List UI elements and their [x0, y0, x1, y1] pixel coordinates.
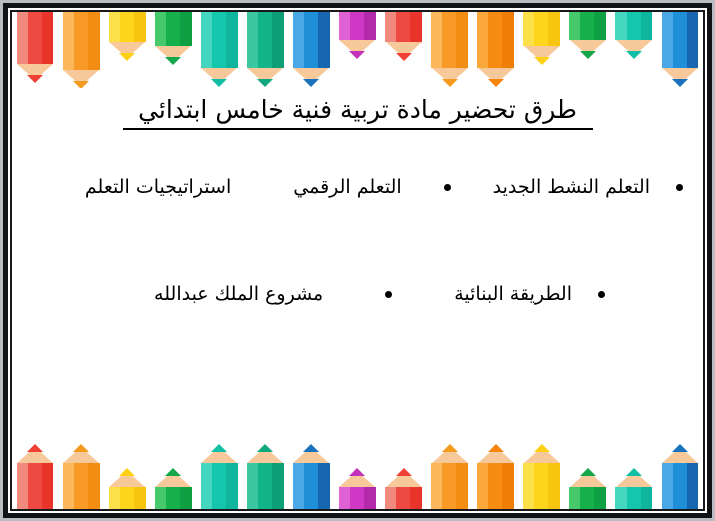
- bullet-item-text: الطريقة البنائية: [454, 281, 572, 308]
- pencil-teal-icon: [201, 444, 238, 509]
- pencil-tip: [349, 468, 365, 476]
- pencil-barrel: [109, 12, 146, 42]
- pencil-orange3-icon: [477, 12, 514, 87]
- pencil-blue-icon: [293, 444, 330, 509]
- pencil-barrel: [293, 12, 330, 68]
- pencil-tip: [211, 79, 227, 87]
- pencil-barrel: [523, 12, 560, 46]
- pencil-orange2-icon: [431, 12, 468, 87]
- bullet-item-text: التعلم النشط الجديد: [493, 174, 650, 201]
- pencil-tip: [488, 79, 504, 87]
- pencil-barrel: [247, 12, 284, 68]
- pencil-barrel: [385, 487, 422, 509]
- bullet-dot-icon: [598, 291, 605, 298]
- pencil-yellow-icon: [109, 12, 146, 61]
- pencil-teal-icon: [201, 12, 238, 87]
- pencil-red-icon: [17, 12, 54, 83]
- pencil-teal2-icon: [615, 12, 652, 59]
- bullet-dot-icon: [385, 291, 392, 298]
- pencil-barrel: [155, 12, 192, 46]
- bullet-line-2: الطريقة البنائية مشروع الملك عبدالله: [14, 281, 701, 308]
- pencil-barrel: [17, 12, 54, 64]
- bullet-dot-icon: [676, 184, 683, 191]
- pencil-barrel: [247, 463, 284, 509]
- page-title: طرق تحضير مادة تربية فنية خامس ابتدائي: [138, 94, 577, 125]
- pencil-red2-icon: [385, 468, 422, 509]
- slide-canvas: طرق تحضير مادة تربية فنية خامس ابتدائي ا…: [0, 0, 715, 521]
- pencil-yellow-icon: [109, 468, 146, 509]
- pencil-tip: [27, 444, 43, 452]
- pencil-purple-icon: [339, 12, 376, 59]
- bullet-item-text: استراتيجيات التعلم: [85, 174, 231, 201]
- pencil-tip: [534, 57, 550, 65]
- pencil-barrel: [293, 463, 330, 509]
- pencil-tip: [73, 81, 89, 88]
- page-title-wrap: طرق تحضير مادة تربية فنية خامس ابتدائي: [14, 94, 701, 130]
- bullet-line-1: التعلم النشط الجديد التعلم الرقمي استرات…: [14, 174, 701, 201]
- pencil-tip: [672, 79, 688, 87]
- pencil-tip: [396, 468, 412, 476]
- pencil-barrel: [63, 463, 100, 509]
- pencil-tip: [27, 75, 43, 83]
- pencil-tip: [580, 51, 596, 59]
- pencil-teal2-icon: [615, 468, 652, 509]
- pencil-tip: [303, 79, 319, 87]
- pencil-tip: [396, 53, 412, 61]
- pencil-tip: [626, 51, 642, 59]
- pencil-barrel: [109, 487, 146, 509]
- pencil-barrel: [477, 12, 514, 68]
- pencil-green2-icon: [569, 468, 606, 509]
- pencil-seagreen-icon: [247, 444, 284, 509]
- slide-content: طرق تحضير مادة تربية فنية خامس ابتدائي ا…: [14, 88, 701, 424]
- title-underline: [123, 128, 593, 130]
- pencil-yellow2-icon: [523, 444, 560, 509]
- pencil-barrel: [431, 463, 468, 509]
- pencil-tip: [303, 444, 319, 452]
- pencil-orange-icon: [63, 12, 100, 88]
- pencil-tip: [119, 53, 135, 61]
- pencil-red-icon: [17, 444, 54, 509]
- pencil-barrel: [339, 12, 376, 40]
- pencil-barrel: [385, 12, 422, 42]
- bullet-item-text: التعلم الرقمي: [293, 174, 401, 201]
- pencil-tip: [442, 79, 458, 87]
- pencil-green-icon: [155, 12, 192, 65]
- pencil-seagreen-icon: [247, 12, 284, 87]
- bullet-dot-icon: [444, 184, 451, 191]
- pencil-tip: [211, 444, 227, 452]
- pencil-barrel: [201, 463, 238, 509]
- pencil-tip: [165, 468, 181, 476]
- pencil-tip: [534, 444, 550, 452]
- pencil-border-top: [12, 12, 703, 88]
- pencil-barrel: [431, 12, 468, 68]
- bullet-item-text: مشروع الملك عبدالله: [154, 281, 323, 308]
- pencil-tip: [257, 444, 273, 452]
- pencil-barrel: [662, 463, 699, 509]
- pencil-barrel: [615, 12, 652, 40]
- pencil-blue-icon: [293, 12, 330, 87]
- pencil-tip: [442, 444, 458, 452]
- pencil-barrel: [63, 12, 100, 70]
- pencil-green-icon: [155, 468, 192, 509]
- pencil-purple-icon: [339, 468, 376, 509]
- pencil-orange-icon: [63, 444, 100, 509]
- pencil-barrel: [523, 463, 560, 509]
- pencil-tip: [165, 57, 181, 65]
- pencil-orange2-icon: [431, 444, 468, 509]
- pencil-tip: [580, 468, 596, 476]
- pencil-barrel: [339, 487, 376, 509]
- pencil-barrel: [569, 12, 606, 40]
- pencil-barrel: [662, 12, 699, 68]
- pencil-tip: [349, 51, 365, 59]
- pencil-barrel: [615, 487, 652, 509]
- pencil-tip: [626, 468, 642, 476]
- pencil-yellow2-icon: [523, 12, 560, 65]
- pencil-border-bottom: [12, 424, 703, 509]
- pencil-blue2-icon: [662, 12, 699, 87]
- pencil-tip: [257, 79, 273, 87]
- pencil-tip: [672, 444, 688, 452]
- pencil-tip: [488, 444, 504, 452]
- pencil-orange3-icon: [477, 444, 514, 509]
- pencil-blue2-icon: [662, 444, 699, 509]
- pencil-green2-icon: [569, 12, 606, 59]
- pencil-barrel: [201, 12, 238, 68]
- pencil-barrel: [17, 463, 54, 509]
- pencil-tip: [73, 444, 89, 452]
- pencil-tip: [119, 468, 135, 476]
- pencil-barrel: [155, 487, 192, 509]
- pencil-red2-icon: [385, 12, 422, 61]
- pencil-barrel: [477, 463, 514, 509]
- pencil-barrel: [569, 487, 606, 509]
